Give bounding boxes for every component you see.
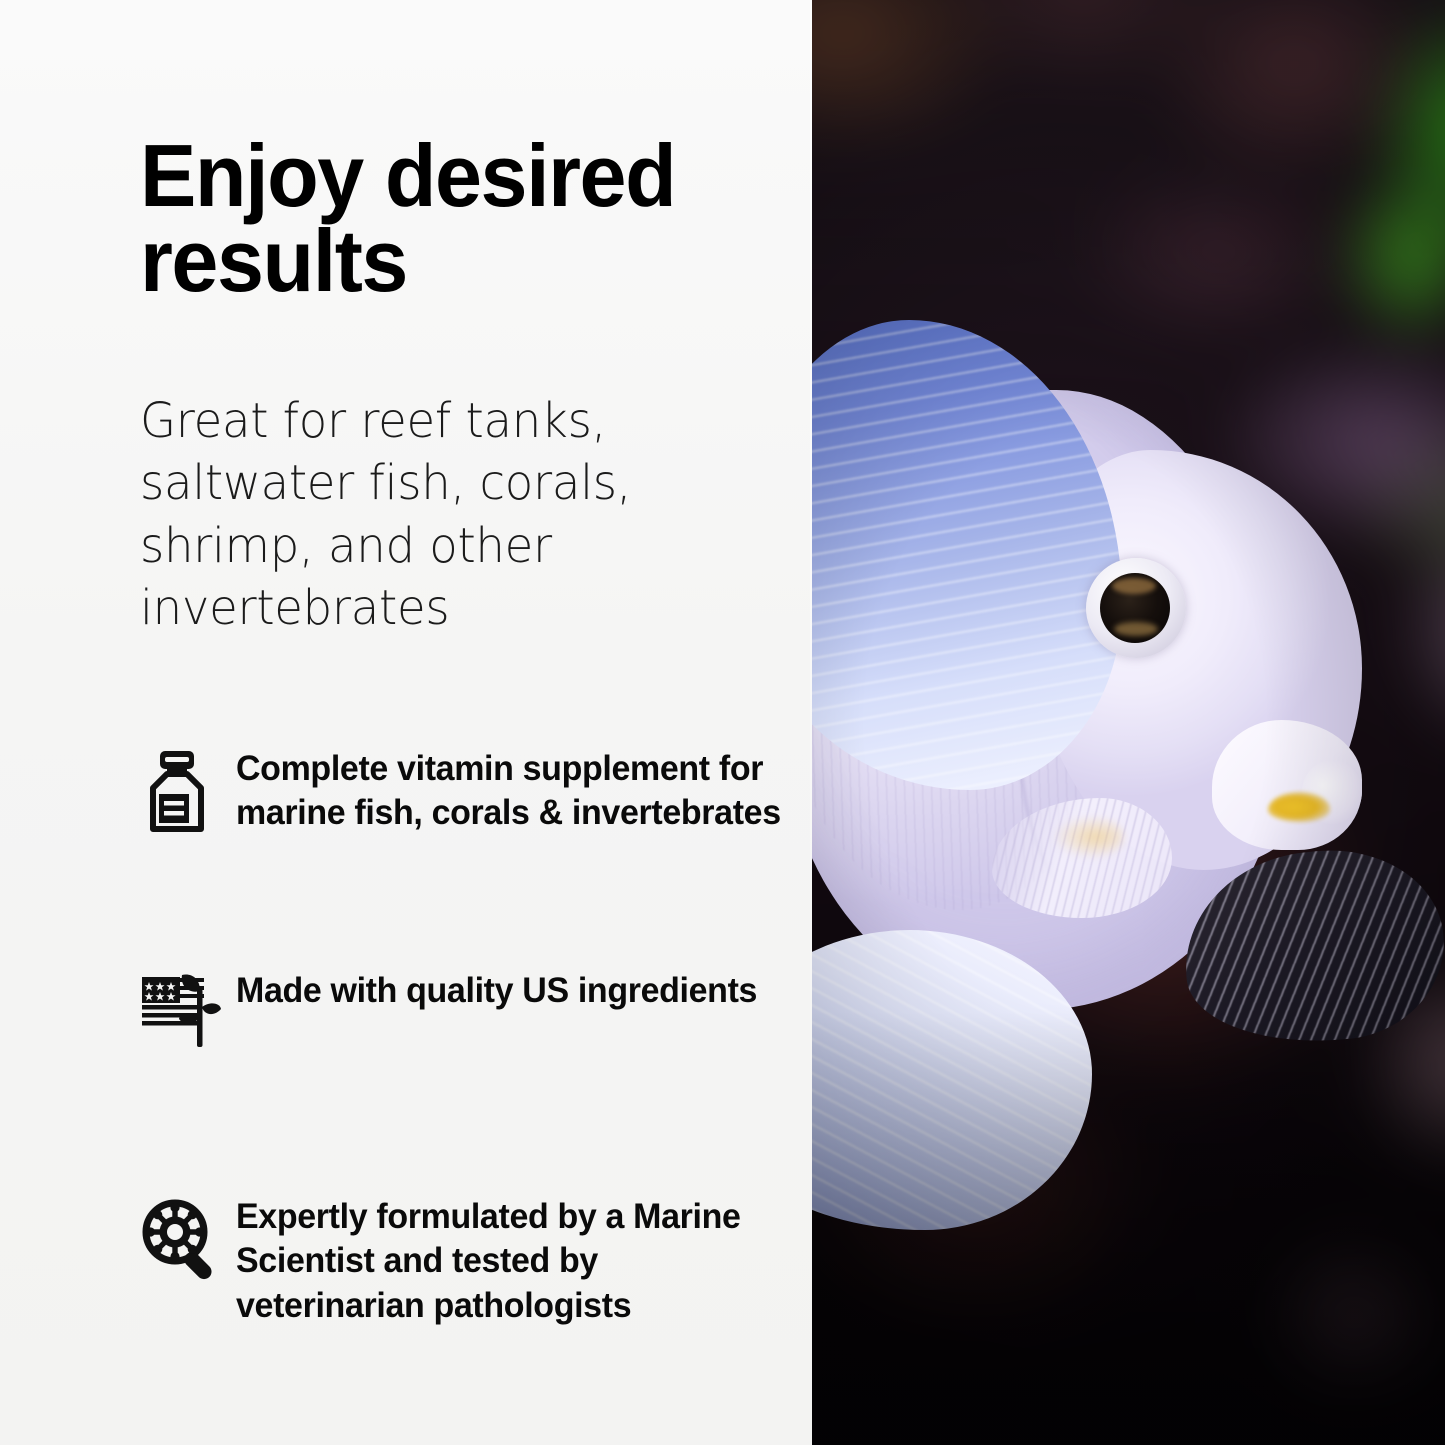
supplement-bottle-icon <box>140 745 236 845</box>
feature-item-us-ingredients: Made with quality US ingredients <box>140 967 800 1067</box>
fish-dorsal-fin <box>812 320 1122 790</box>
fish-subject <box>812 330 1342 1090</box>
copy-panel: Enjoy desired results Great for reef tan… <box>0 0 812 1445</box>
magnifier-microbe-icon <box>140 1193 236 1293</box>
fish-ventral-fin <box>812 930 1092 1230</box>
us-flag-plant-icon <box>140 967 236 1067</box>
subheadline: Great for reef tanks, saltwater fish, co… <box>140 390 722 640</box>
feature-label: Expertly formulated by a Marine Scientis… <box>236 1193 783 1328</box>
product-feature-card: Enjoy desired results Great for reef tan… <box>0 0 1445 1445</box>
feature-item-expert-formulation: Expertly formulated by a Marine Scientis… <box>140 1193 800 1328</box>
reef-aquarium-fish-photo <box>812 0 1445 1445</box>
fish-striped-fin <box>1175 839 1445 1055</box>
fish-eye-highlight-top <box>1112 578 1156 594</box>
fish-eye-highlight-bottom <box>1114 622 1158 636</box>
page-title: Enjoy desired results <box>140 133 754 304</box>
feature-label: Complete vitamin supplement for marine f… <box>236 745 783 836</box>
fish-yellow-lip-marking <box>1268 792 1330 822</box>
feature-item-vitamin-supplement: Complete vitamin supplement for marine f… <box>140 745 800 845</box>
fish-pectoral-highlight <box>1054 816 1124 858</box>
feature-label: Made with quality US ingredients <box>236 967 783 1013</box>
